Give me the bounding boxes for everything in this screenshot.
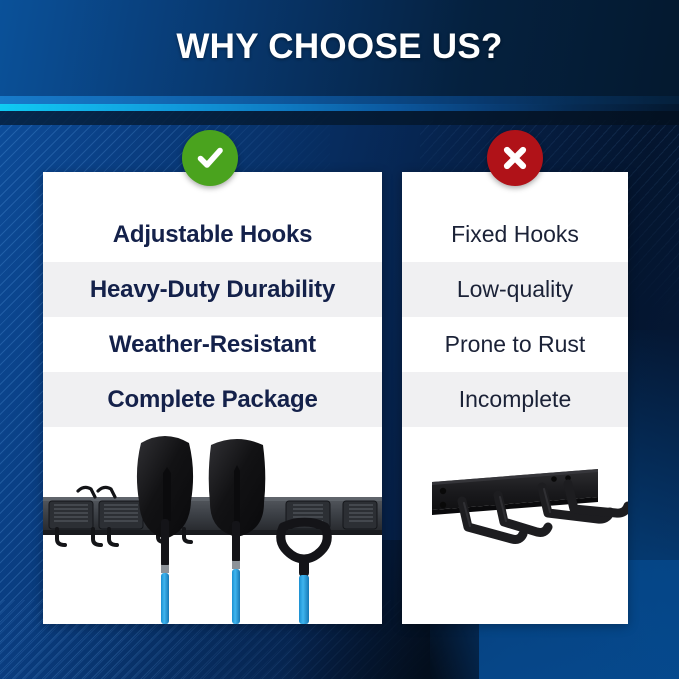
cons-item-label: Low-quality	[457, 276, 573, 303]
list-item: Heavy-Duty Durability	[43, 262, 382, 317]
infographic-canvas: WHY CHOOSE US? Adjustable Hooks Heavy-Du…	[0, 0, 679, 679]
pros-feature-list: Adjustable Hooks Heavy-Duty Durability W…	[43, 207, 382, 427]
pros-card: Adjustable Hooks Heavy-Duty Durability W…	[43, 172, 382, 624]
list-item: Complete Package	[43, 372, 382, 427]
cons-item-label: Prone to Rust	[445, 331, 586, 358]
check-icon	[194, 142, 226, 174]
list-item: Adjustable Hooks	[43, 207, 382, 262]
list-item: Weather-Resistant	[43, 317, 382, 372]
list-item: Prone to Rust	[402, 317, 628, 372]
cons-product-image	[402, 427, 628, 624]
list-item: Fixed Hooks	[402, 207, 628, 262]
cons-card: Fixed Hooks Low-quality Prone to Rust In…	[402, 172, 628, 624]
background-cyan-streak	[0, 104, 679, 111]
pros-item-label: Heavy-Duty Durability	[90, 276, 335, 304]
cross-badge	[487, 130, 543, 186]
cons-feature-list: Fixed Hooks Low-quality Prone to Rust In…	[402, 207, 628, 427]
list-item: Low-quality	[402, 262, 628, 317]
cross-icon	[500, 143, 530, 173]
background-shadow-band	[0, 111, 679, 125]
pros-item-label: Complete Package	[107, 386, 317, 414]
pros-item-label: Weather-Resistant	[109, 331, 316, 359]
pros-item-label: Adjustable Hooks	[113, 221, 313, 249]
page-title: WHY CHOOSE US?	[0, 27, 679, 67]
check-badge	[182, 130, 238, 186]
cons-item-label: Fixed Hooks	[451, 221, 579, 248]
cons-item-label: Incomplete	[459, 386, 572, 413]
list-item: Incomplete	[402, 372, 628, 427]
pros-product-image	[43, 427, 382, 624]
